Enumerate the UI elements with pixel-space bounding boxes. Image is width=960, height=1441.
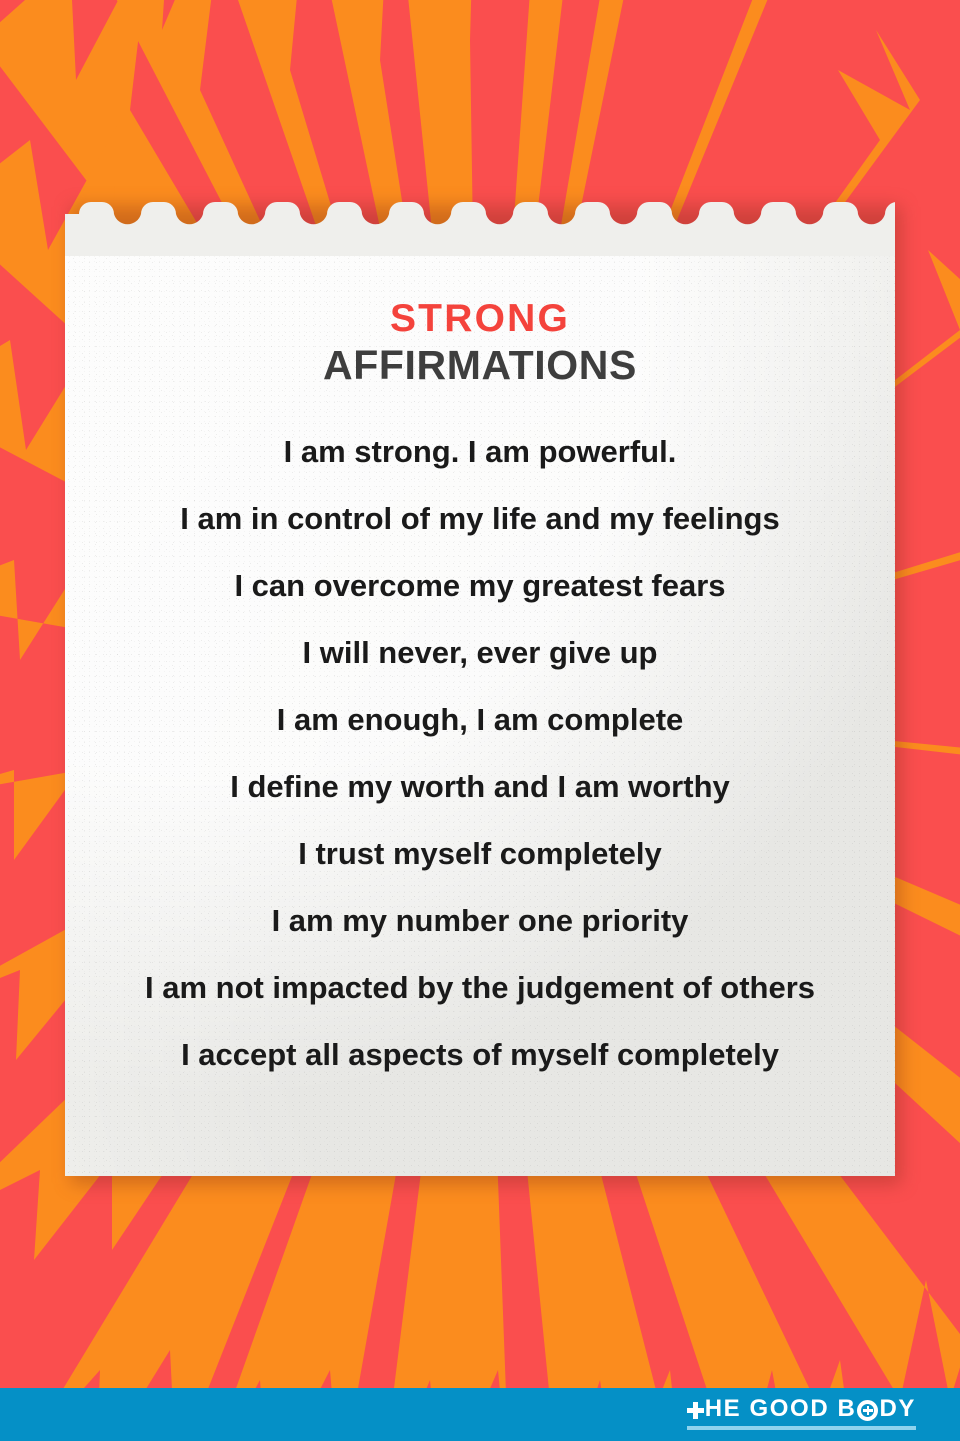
- list-item: I will never, ever give up: [65, 637, 895, 704]
- brand-wordmark: HE GOOD B DY: [687, 1397, 916, 1421]
- page-title-main: AFFIRMATIONS: [65, 340, 895, 391]
- list-item: I trust myself completely: [65, 838, 895, 905]
- list-item: I accept all aspects of myself completel…: [65, 1039, 895, 1106]
- list-item: I am my number one priority: [65, 905, 895, 972]
- list-item: I am not impacted by the judgement of ot…: [65, 972, 895, 1039]
- circle-plus-icon: [857, 1400, 878, 1421]
- page-title-accent: STRONG: [65, 298, 895, 340]
- poster-heading-group: STRONG AFFIRMATIONS: [65, 298, 895, 391]
- footer-brand-bar: HE GOOD B DY: [0, 1388, 960, 1441]
- list-item: I am enough, I am complete: [65, 704, 895, 771]
- list-item: I am in control of my life and my feelin…: [65, 503, 895, 570]
- paper-sheet: STRONG AFFIRMATIONS I am strong. I am po…: [65, 196, 895, 1176]
- plus-icon: [687, 1402, 704, 1419]
- the-good-body-logo[interactable]: HE GOOD B DY: [687, 1397, 916, 1430]
- list-item: I can overcome my greatest fears: [65, 570, 895, 637]
- affirmations-list: I am strong. I am powerful. I am in cont…: [65, 436, 895, 1106]
- list-item: I am strong. I am powerful.: [65, 436, 895, 503]
- list-item: I define my worth and I am worthy: [65, 771, 895, 838]
- brand-text-part1: HE GOOD B: [705, 1397, 857, 1421]
- perforated-edge-icon: [65, 196, 895, 256]
- brand-underline: [687, 1426, 916, 1430]
- brand-text-part2: DY: [879, 1397, 916, 1421]
- notepad-paper-card: STRONG AFFIRMATIONS I am strong. I am po…: [65, 196, 895, 1176]
- affirmations-poster: STRONG AFFIRMATIONS I am strong. I am po…: [0, 0, 960, 1441]
